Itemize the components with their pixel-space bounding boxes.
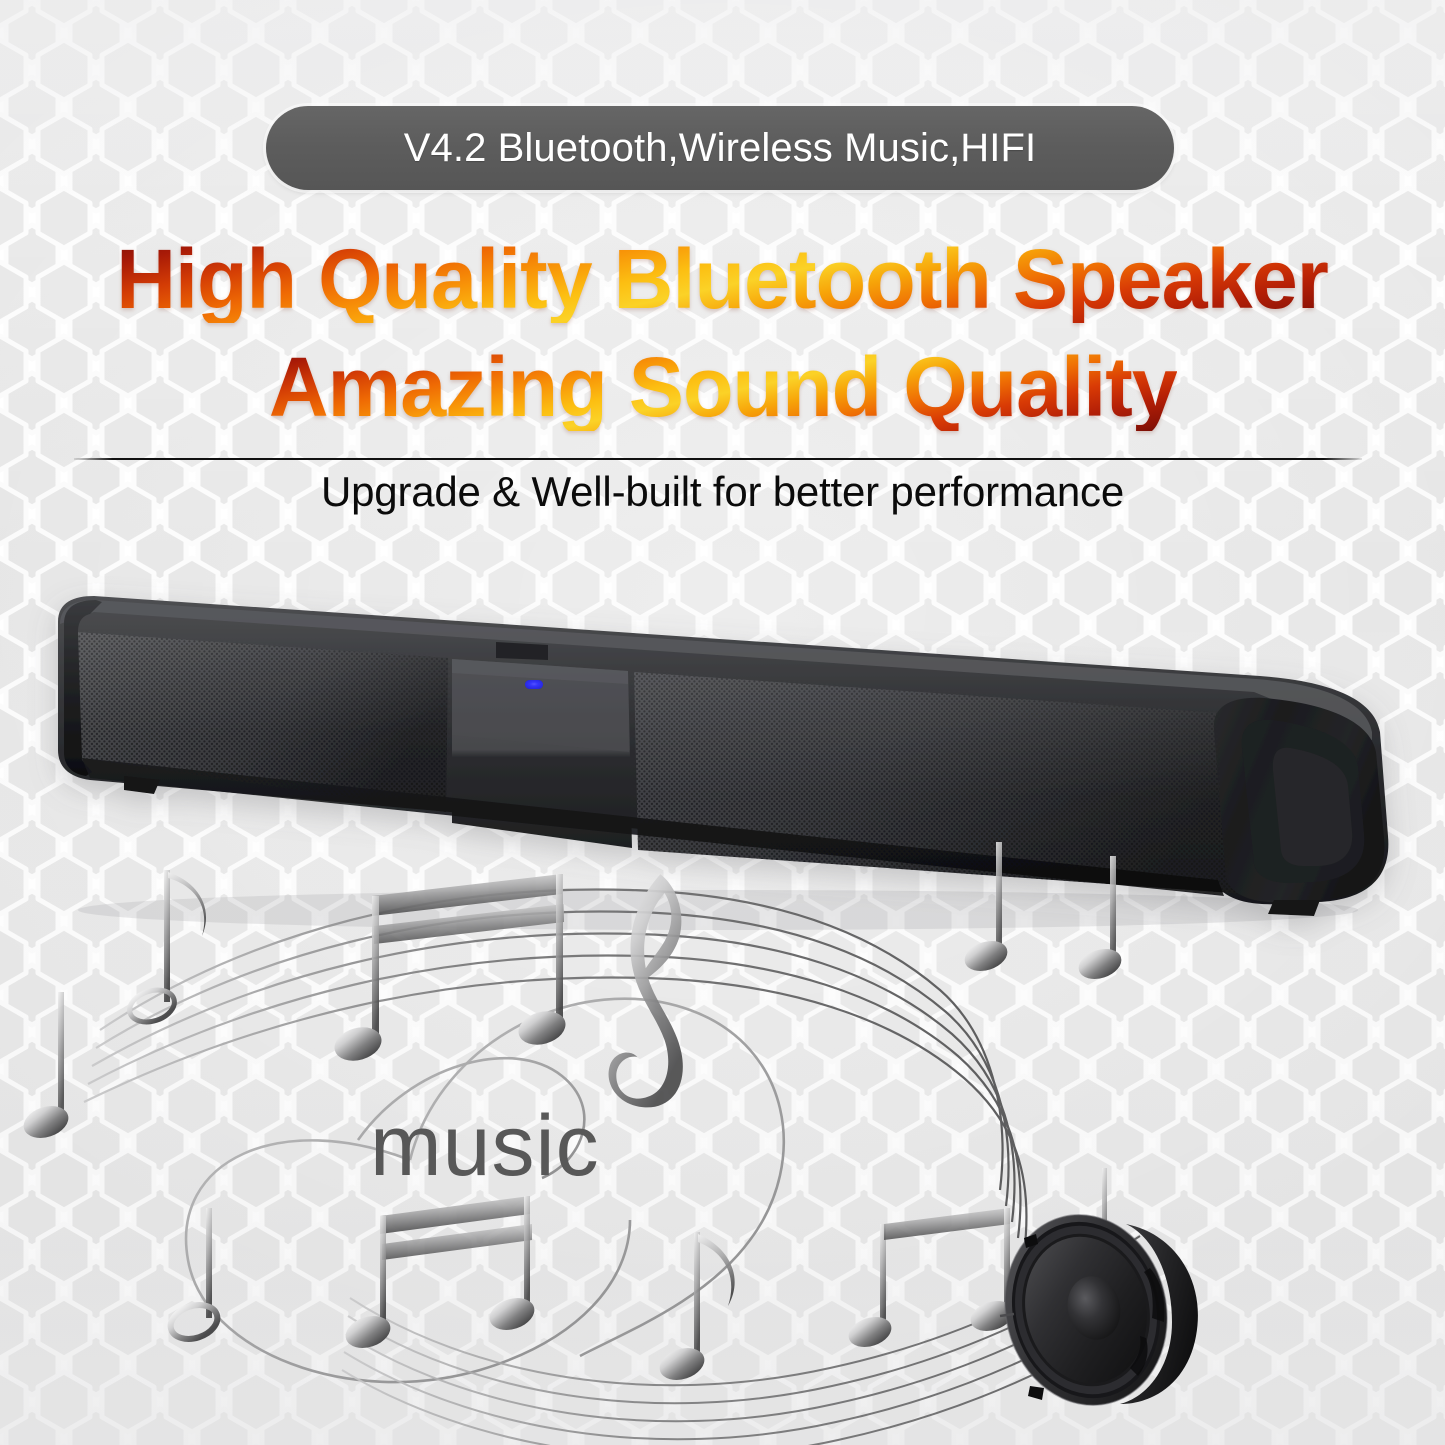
subtitle-text: Upgrade & Well-built for better performa…	[0, 468, 1445, 516]
marketing-banner-canvas: V4.2 Bluetooth,Wireless Music,HIFI High …	[0, 0, 1445, 1445]
treble-clef-icon	[609, 874, 683, 1107]
headline-line-1: High Quality Bluetooth Speaker	[0, 236, 1445, 323]
headline-line-2: Amazing Sound Quality	[0, 344, 1445, 431]
headline-line-1-text: High Quality Bluetooth Speaker	[117, 236, 1329, 323]
eighth-note-upper-left	[125, 870, 206, 1027]
notes-lower-staff	[166, 1168, 1116, 1385]
beamed-eighth-notes-upper	[331, 874, 570, 1066]
feature-banner-pill: V4.2 Bluetooth,Wireless Music,HIFI	[266, 106, 1174, 190]
speaker-driver-image	[1000, 1190, 1225, 1425]
headline-line-2-text: Amazing Sound Quality	[269, 344, 1177, 431]
music-notes-decoration	[110, 860, 1140, 1420]
headline-divider	[74, 458, 1362, 460]
eighth-notes-upper-right	[961, 842, 1125, 984]
feature-banner-text: V4.2 Bluetooth,Wireless Music,HIFI	[404, 126, 1037, 171]
music-wordmark: music	[370, 1097, 600, 1196]
